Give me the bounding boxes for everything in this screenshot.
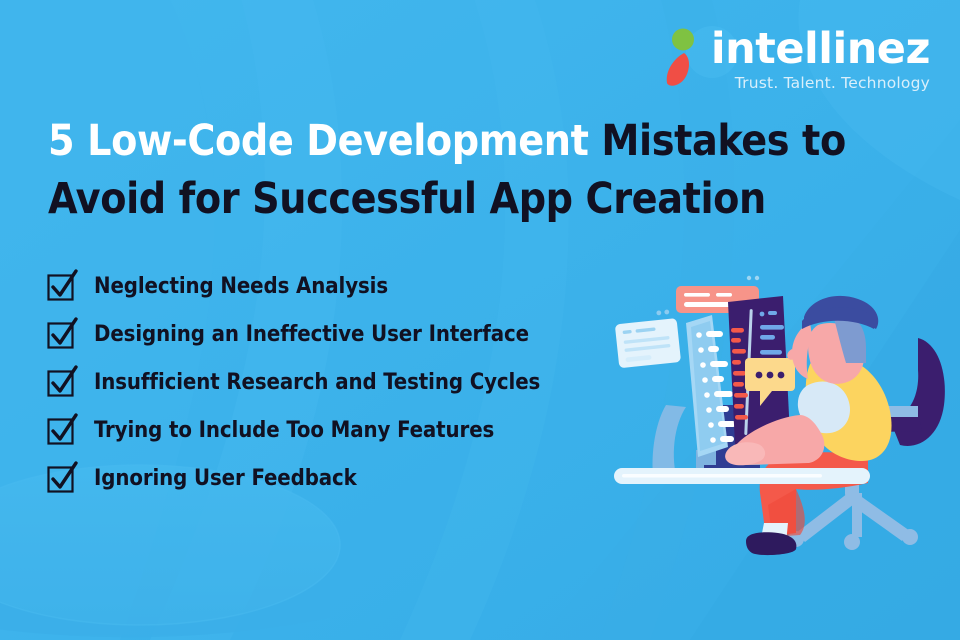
checkbox-checked-icon <box>48 466 73 491</box>
list-item: Neglecting Needs Analysis <box>48 262 540 310</box>
list-item-label: Trying to Include Too Many Features <box>94 418 494 443</box>
list-item-label: Neglecting Needs Analysis <box>94 274 388 299</box>
list-item: Trying to Include Too Many Features <box>48 406 540 454</box>
list-item-label: Insufficient Research and Testing Cycles <box>94 370 540 395</box>
desk <box>614 468 870 484</box>
list-item-label: Designing an Ineffective User Interface <box>94 322 529 347</box>
logo-text-block: intellinez Trust. Talent. Technology <box>711 26 930 92</box>
mistakes-checklist: Neglecting Needs Analysis Designing an I… <box>48 262 540 502</box>
list-item: Designing an Ineffective User Interface <box>48 310 540 358</box>
intellinez-i-leaf-logo-icon <box>653 26 709 88</box>
page-title: 5 Low-Code Development Mistakes to Avoid… <box>48 113 908 229</box>
list-item: Ignoring User Feedback <box>48 454 540 502</box>
brand-logo[interactable]: intellinez Trust. Talent. Technology <box>653 26 930 92</box>
list-item-label: Ignoring User Feedback <box>94 466 357 491</box>
checkbox-checked-icon <box>48 370 73 395</box>
developer-illustration <box>600 265 960 640</box>
checkbox-checked-icon <box>48 322 73 347</box>
floating-card-white <box>614 309 681 369</box>
page-title-highlight: 5 Low-Code Development <box>48 117 601 166</box>
checkbox-checked-icon <box>48 274 73 299</box>
logo-tagline: Trust. Talent. Technology <box>735 76 930 92</box>
checkbox-checked-icon <box>48 418 73 443</box>
logo-wordmark: intellinez <box>711 28 930 71</box>
list-item: Insufficient Research and Testing Cycles <box>48 358 540 406</box>
